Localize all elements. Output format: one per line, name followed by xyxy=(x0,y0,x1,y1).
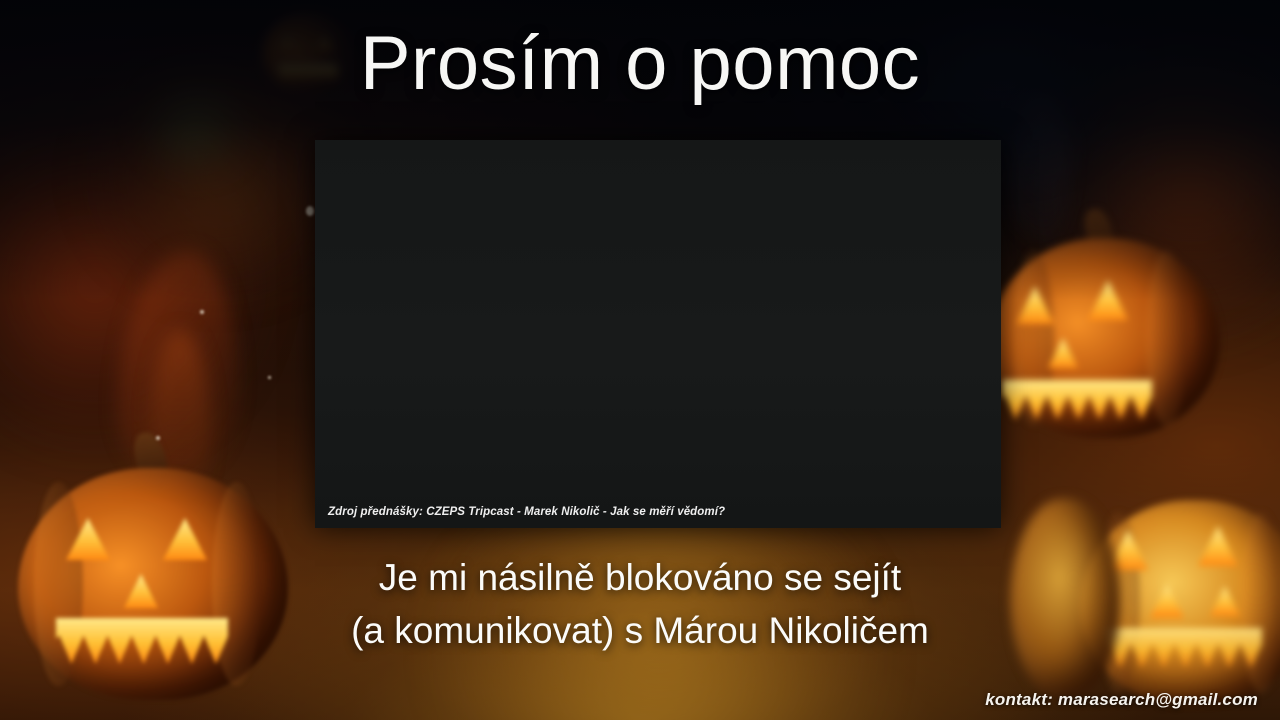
body-text-line-1: Je mi násilně blokováno se sejít xyxy=(0,552,1280,605)
body-text-line-2: (a komunikovat) s Márou Nikoličem xyxy=(0,605,1280,658)
slide-body-text: Je mi násilně blokováno se sejít (a komu… xyxy=(0,552,1280,657)
slide-title: Prosím o pomoc xyxy=(0,24,1280,104)
presentation-slide: Prosím o pomoc Zdroj přednášky: CZEPS Tr… xyxy=(0,0,1280,720)
light-speck xyxy=(156,436,160,440)
light-speck xyxy=(268,376,271,379)
contact-line: kontakt: marasearch@gmail.com xyxy=(985,690,1258,710)
media-placeholder-panel[interactable]: Zdroj přednášky: CZEPS Tripcast - Marek … xyxy=(315,140,1001,528)
media-source-caption: Zdroj přednášky: CZEPS Tripcast - Marek … xyxy=(328,506,725,518)
light-speck xyxy=(200,310,204,314)
